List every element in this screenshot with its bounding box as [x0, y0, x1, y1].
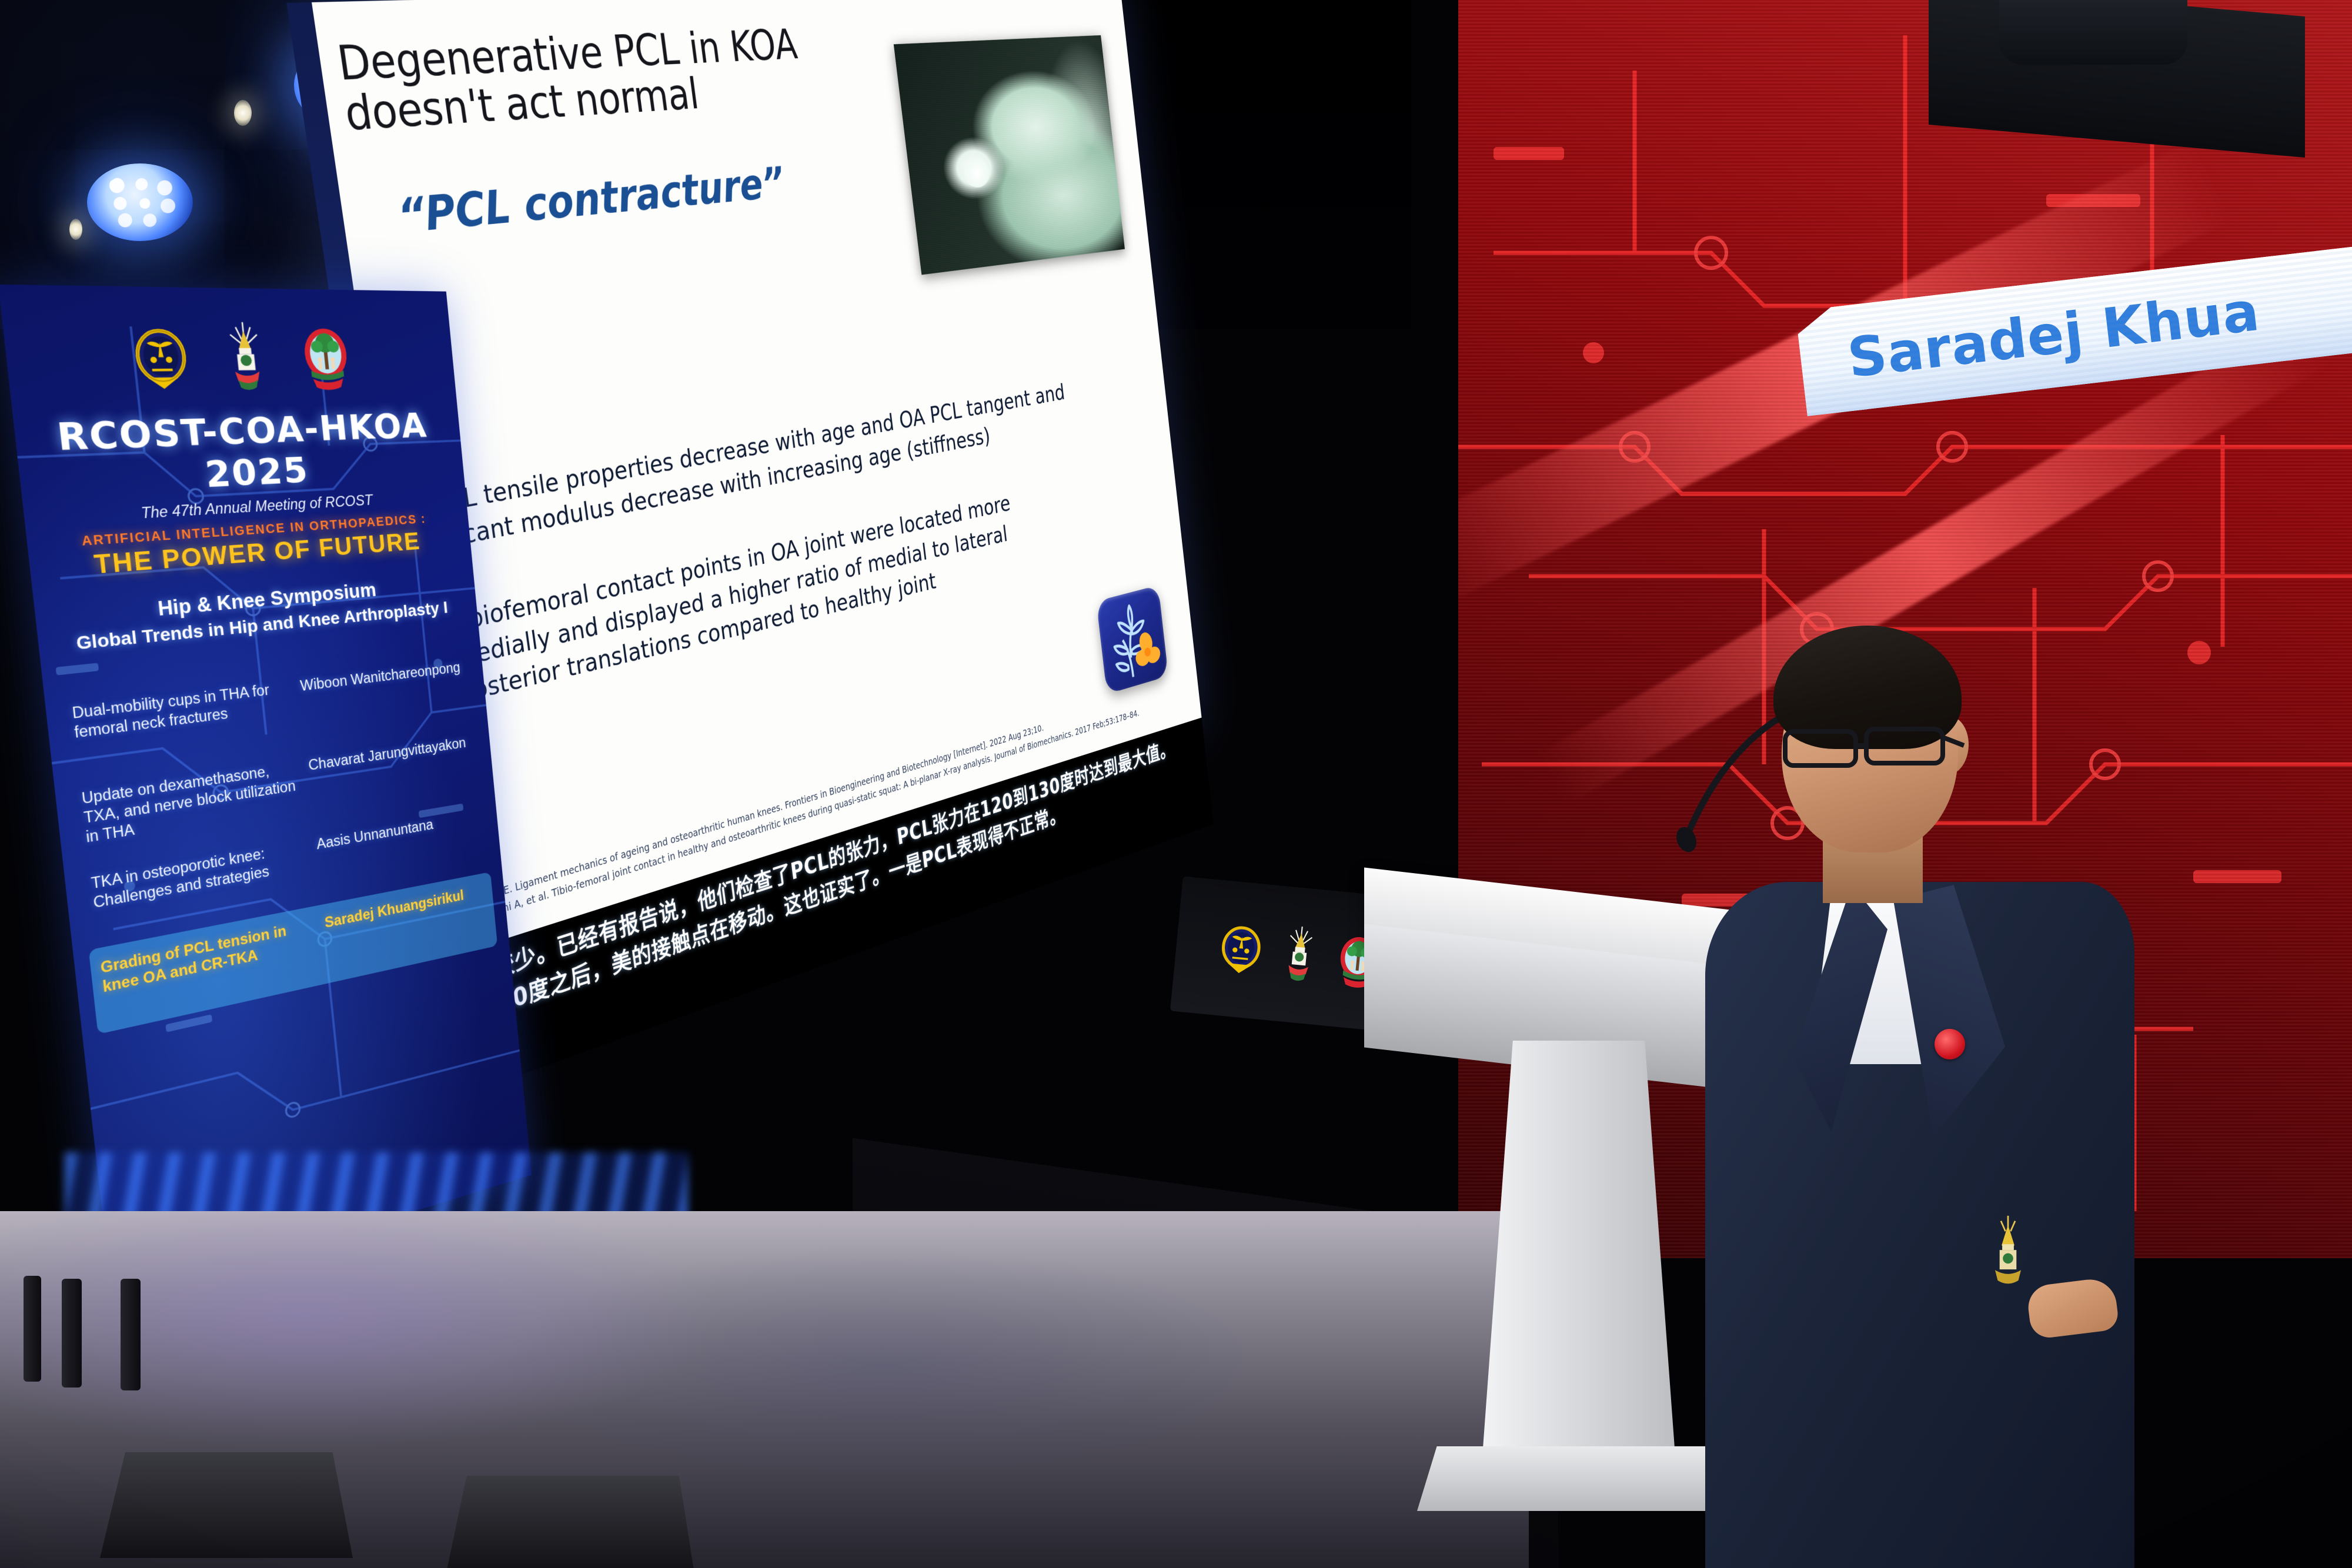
schedule-speaker: Wiboon Wanitchareonpong [299, 658, 463, 696]
white-spotlight-icon [234, 100, 252, 126]
overhead-silhouette [1999, 0, 2187, 65]
slide-title: Degenerative PCL in KOA doesn't act norm… [335, 19, 922, 139]
eyeglasses-icon [1770, 711, 1970, 782]
rcost-thailand-crest-icon [211, 320, 280, 397]
rcost-tree-flower-logo-icon [1096, 585, 1168, 694]
stage-wedge-monitor [447, 1476, 694, 1568]
lapel-pin-icon [1935, 1029, 1965, 1059]
podium-column [1482, 1041, 1676, 1464]
hong-kong-orthopaedic-association-crest-icon [293, 320, 359, 396]
program-board: RCOST-COA-HKOA 2025 The 47th Annual Meet… [0, 285, 532, 1305]
xray-radiograph-icon [894, 35, 1125, 275]
slide-bullet-list: • ACL tensile properties decrease with a… [405, 377, 1088, 765]
chinese-orthopaedic-association-crest-icon [1213, 915, 1268, 985]
light-stand [121, 1279, 141, 1390]
blue-led-par-icon [87, 163, 193, 241]
light-stand [24, 1276, 41, 1382]
presenter-figure [1699, 617, 2146, 1568]
knee-xray-image [894, 35, 1125, 275]
light-stand [62, 1279, 82, 1388]
gold-thai-crest-icon [1976, 1211, 2040, 1293]
program-board-panel: RCOST-COA-HKOA 2025 The 47th Annual Meet… [0, 285, 532, 1305]
chinese-orthopaedic-association-crest-icon [125, 319, 198, 399]
conference-stage-photo: Saradej Khua Degenerative PCL in KOA doe… [0, 0, 2352, 1568]
white-spotlight-icon [69, 219, 82, 240]
rcost-thailand-crest-icon [1272, 921, 1327, 990]
association-crest-row [1, 308, 457, 412]
podium-base [1417, 1446, 1746, 1511]
stage-wedge-monitor [100, 1452, 353, 1558]
